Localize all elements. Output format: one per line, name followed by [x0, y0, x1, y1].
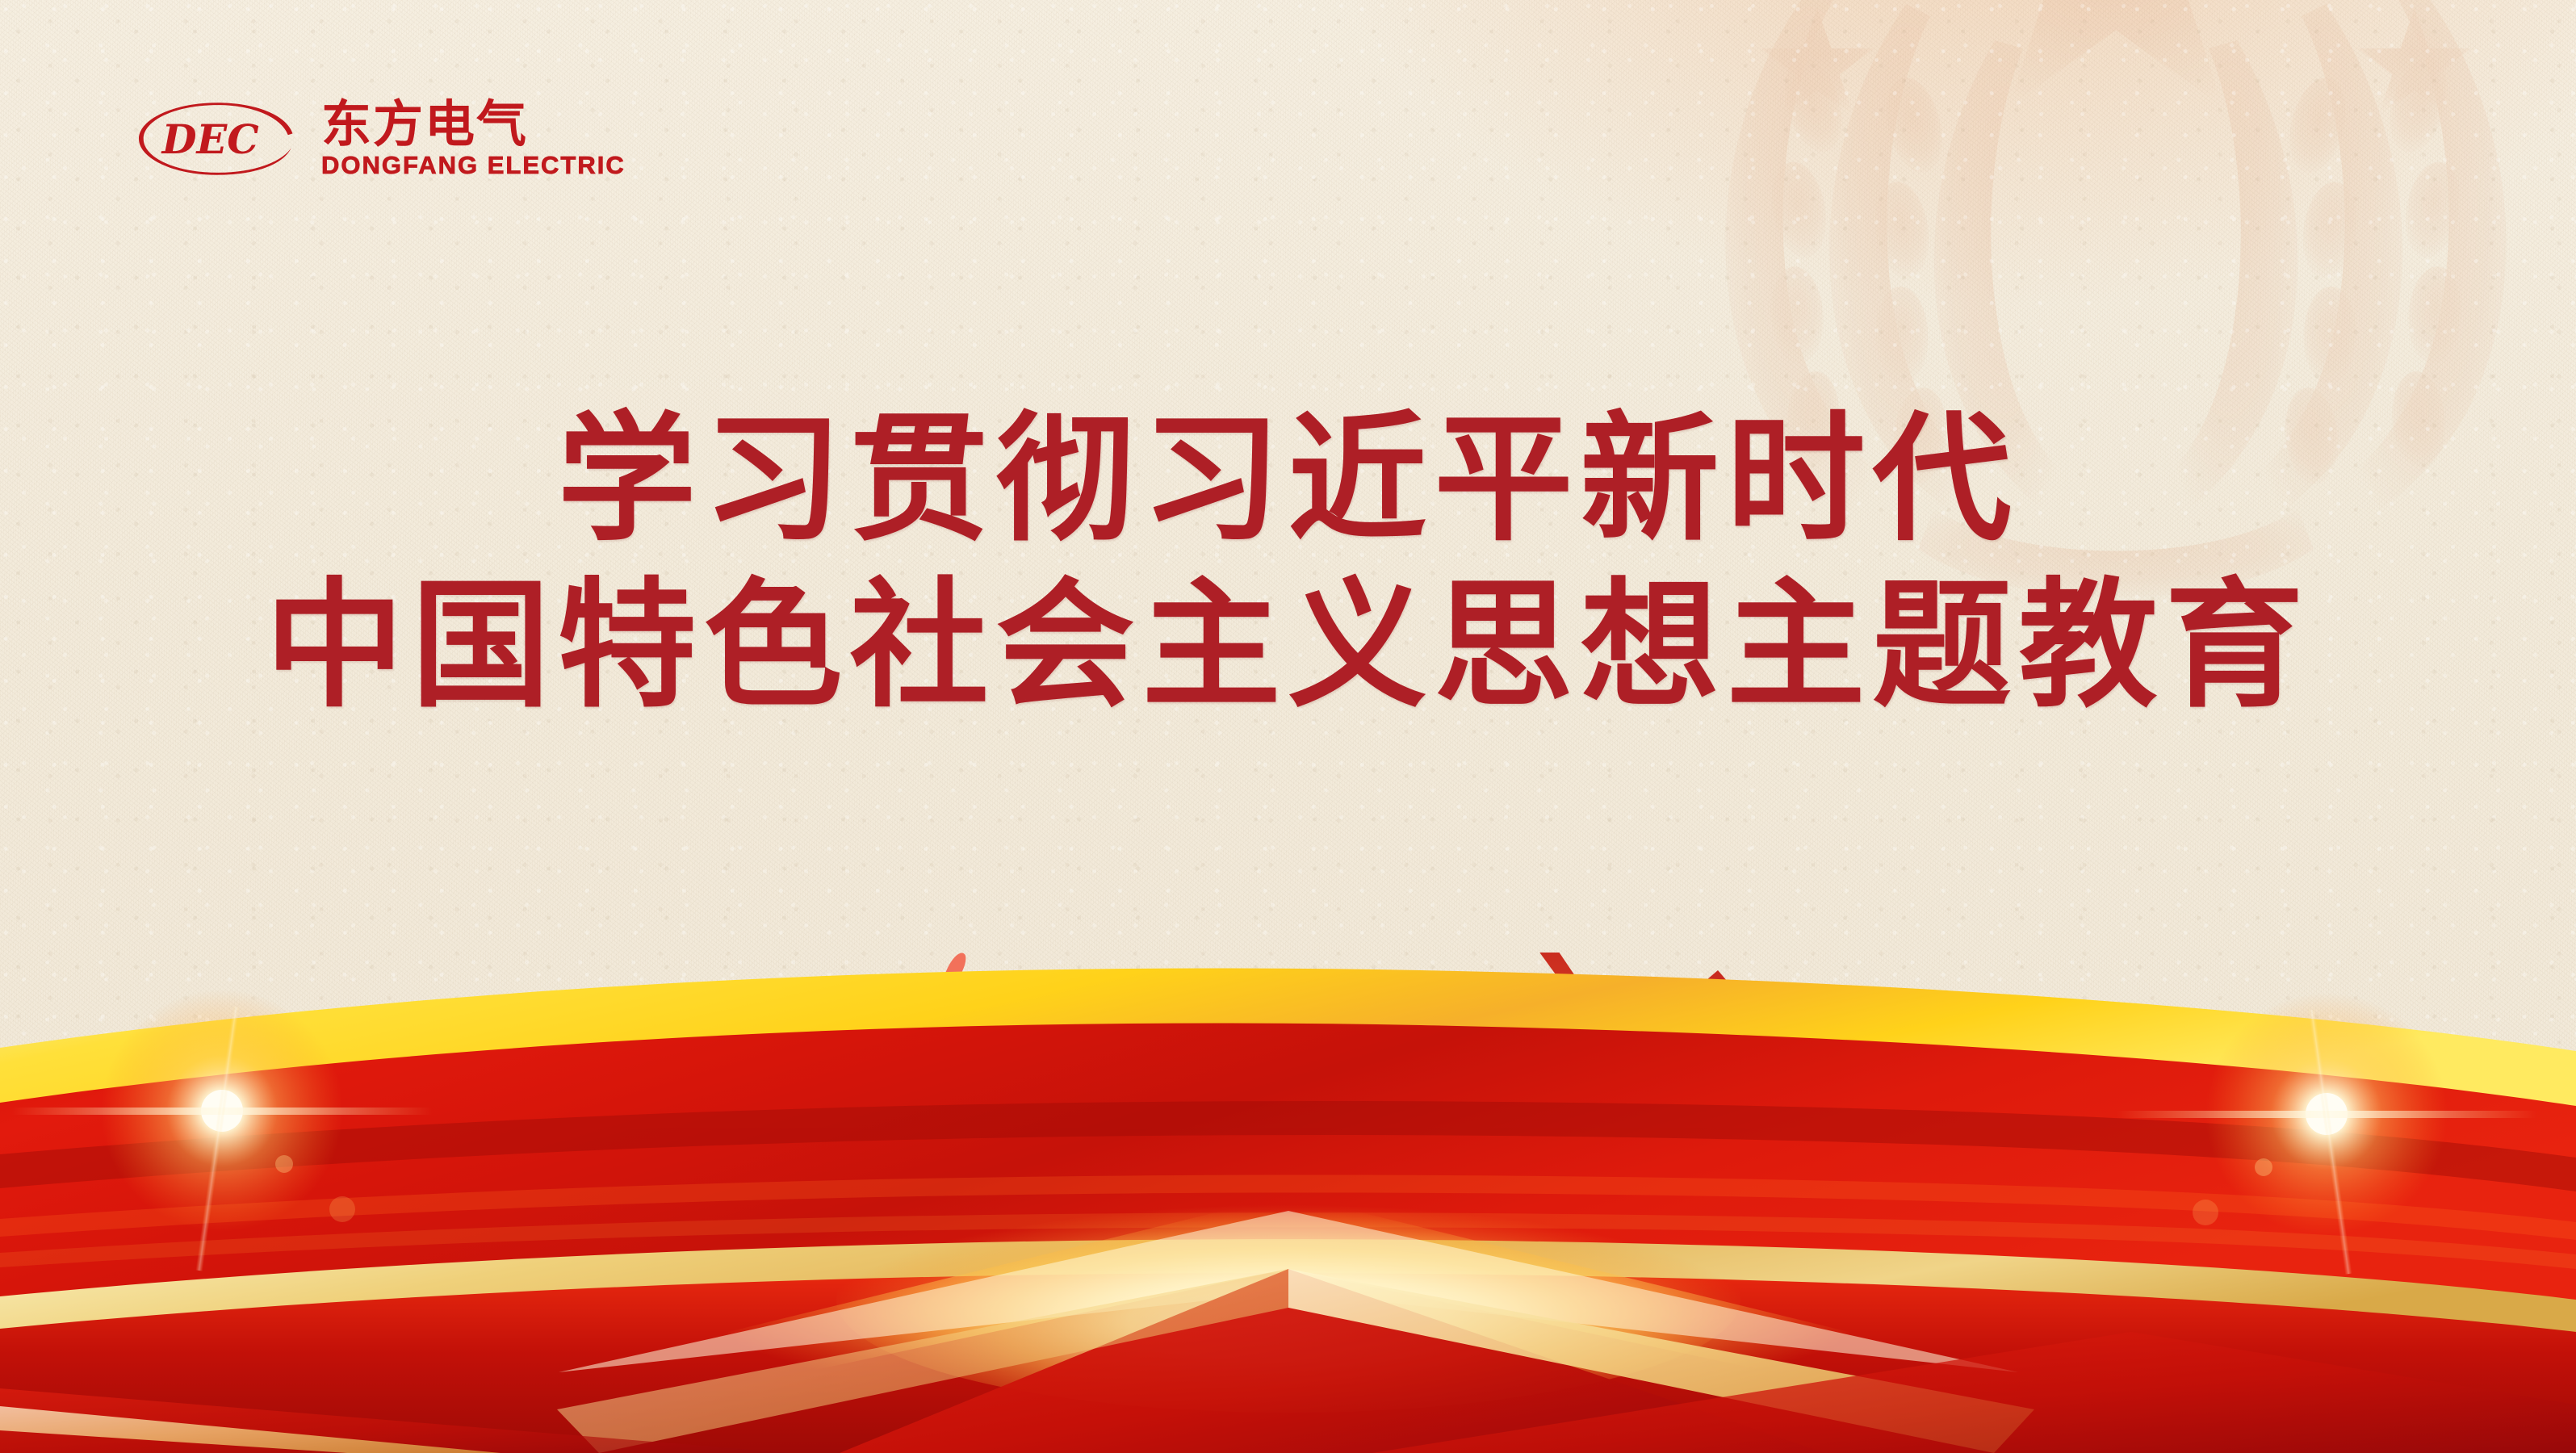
svg-text:DEC: DEC	[161, 116, 259, 163]
title-line-2: 中国特色社会主义思想主题教育	[0, 576, 2576, 715]
brand-logo: DEC 东方电气 DONGFANG ELECTRIC	[139, 99, 626, 178]
bottom-scenery: H H 2	[0, 953, 2576, 1453]
brand-name-cn: 东方电气	[321, 99, 626, 149]
dec-ellipse-logo-icon: DEC	[139, 100, 300, 178]
poster-canvas: DEC 东方电气 DONGFANG ELECTRIC 学习贯彻习近平新时代 中国…	[0, 0, 2576, 1453]
scenery-artwork: H H 2	[0, 953, 2576, 1453]
brand-name-en: DONGFANG ELECTRIC	[321, 153, 626, 178]
poster-title: 学习贯彻习近平新时代 中国特色社会主义思想主题教育	[0, 410, 2576, 715]
title-line-1: 学习贯彻习近平新时代	[0, 410, 2576, 549]
